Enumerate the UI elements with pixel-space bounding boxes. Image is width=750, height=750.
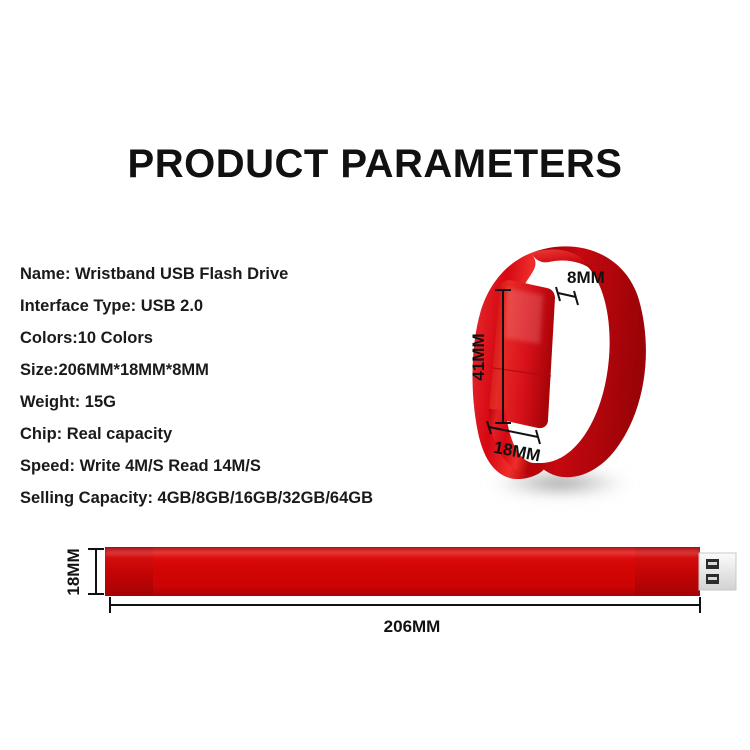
spec-line-weight: Weight: 15G xyxy=(20,386,440,418)
product-parameters-page: PRODUCT PARAMETERS Name: Wristband USB F… xyxy=(0,0,750,750)
band-lower-tail xyxy=(489,409,537,474)
page-title: PRODUCT PARAMETERS xyxy=(0,142,750,187)
usb-flap-seam xyxy=(493,368,551,376)
dimension-18mm-coiled: 18MM xyxy=(487,421,542,465)
dimension-41mm-label: 41MM xyxy=(469,333,488,380)
spec-line-chip: Chip: Real capacity xyxy=(20,418,440,450)
usb-contact-bottom xyxy=(706,574,719,584)
band-inner-cavity xyxy=(513,294,580,465)
usb-connector xyxy=(699,553,736,590)
strap-left-flap xyxy=(105,547,153,596)
coiled-band-shadow xyxy=(482,468,638,498)
usb-connector-body xyxy=(699,553,736,590)
dimension-8mm-label: 8MM xyxy=(567,268,605,287)
strap-top-highlight xyxy=(105,549,700,555)
usb-contact-top xyxy=(706,559,719,569)
dimension-206mm: 206MM xyxy=(110,597,700,636)
dimension-18mm-flat: 18MM xyxy=(64,548,104,595)
specification-list: Name: Wristband USB Flash Drive Interfac… xyxy=(20,258,440,514)
band-front-strip xyxy=(472,253,545,479)
dimension-8mm: 8MM xyxy=(556,268,605,305)
usb-flap-body xyxy=(489,280,555,428)
spec-line-speed: Speed: Write 4M/S Read 14M/S xyxy=(20,450,440,482)
spec-line-size: Size:206MM*18MM*8MM xyxy=(20,354,440,386)
flat-strap-illustration: 18MM 206MM xyxy=(64,547,736,636)
usb-contact-bottom-stripe xyxy=(708,577,717,580)
strap-body xyxy=(105,547,700,596)
spec-line-selling-capacity: Selling Capacity: 4GB/8GB/16GB/32GB/64GB xyxy=(20,482,440,514)
usb-flap-highlight xyxy=(505,288,543,344)
spec-line-name: Name: Wristband USB Flash Drive xyxy=(20,258,440,290)
dimension-206mm-label: 206MM xyxy=(384,617,441,636)
dimension-18mm-coiled-label: 18MM xyxy=(492,438,542,466)
usb-contact-top-stripe xyxy=(708,562,717,565)
spec-line-interface-type: Interface Type: USB 2.0 xyxy=(20,290,440,322)
coiled-wristband-illustration: 41MM 8MM 18MM xyxy=(469,246,646,498)
strap-right-flap xyxy=(635,547,700,596)
dimension-41mm: 41MM xyxy=(469,290,511,423)
band-loop-back xyxy=(531,246,646,477)
spec-line-colors: Colors:10 Colors xyxy=(20,322,440,354)
dimension-18mm-flat-label: 18MM xyxy=(64,548,83,595)
band-top-edge xyxy=(531,249,594,271)
